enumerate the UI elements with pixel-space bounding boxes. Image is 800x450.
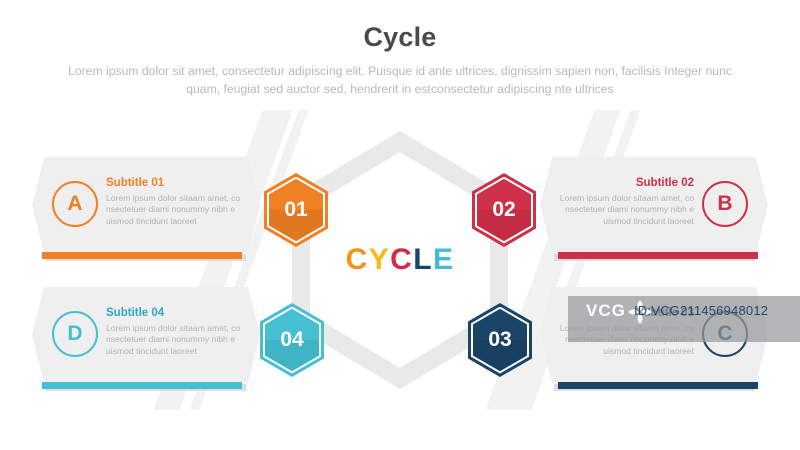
hex-03[interactable]: 03: [468, 303, 532, 377]
card-02-letter: B: [717, 192, 732, 216]
card-02-description: Lorem ipsum dolor sitaam amet, co nsecte…: [546, 193, 694, 227]
card-04-accent-bar: [42, 382, 242, 389]
hex-01[interactable]: 01: [264, 173, 328, 247]
cycle-letter-2: Y: [369, 243, 390, 276]
card-01-subtitle: Subtitle 01: [106, 177, 254, 189]
hex-02[interactable]: 02: [472, 173, 536, 247]
cycle-wordmark: CYCLE: [292, 243, 508, 277]
cycle-letter-5: E: [433, 243, 454, 276]
hex-03-number: 03: [468, 303, 532, 377]
card-02[interactable]: B Subtitle 02 Lorem ipsum dolor sitaam a…: [540, 157, 768, 253]
hex-02-number: 02: [472, 173, 536, 247]
card-03[interactable]: C Subtitle 03 Lorem ipsum dolor sitaam a…: [540, 287, 768, 383]
card-01-accent-bar: [42, 252, 242, 259]
hex-04[interactable]: 04: [260, 303, 324, 377]
card-03-accent-bar: [558, 382, 758, 389]
card-04-description: Lorem ipsum dolor sitaam amet, co nsecte…: [106, 323, 254, 357]
card-02-letter-badge: B: [702, 181, 748, 227]
card-04-subtitle: Subtitle 04: [106, 307, 254, 319]
page-title: Cycle: [0, 22, 800, 53]
card-02-accent-bar: [558, 252, 758, 259]
card-04-text: Subtitle 04 Lorem ipsum dolor sitaam ame…: [106, 307, 254, 357]
card-04-letter: D: [67, 322, 82, 346]
card-01[interactable]: A Subtitle 01 Lorem ipsum dolor sitaam a…: [32, 157, 260, 253]
card-04-letter-badge: D: [52, 311, 98, 357]
card-04[interactable]: D Subtitle 04 Lorem ipsum dolor sitaam a…: [32, 287, 260, 383]
card-01-text: Subtitle 01 Lorem ipsum dolor sitaam ame…: [106, 177, 254, 227]
watermark-brand: VCG: [586, 301, 626, 321]
page-subtitle: Lorem ipsum dolor sit amet, consectetur …: [50, 62, 750, 98]
card-01-description: Lorem ipsum dolor sitaam amet, co nsecte…: [106, 193, 254, 227]
cycle-letter-4: L: [413, 243, 433, 276]
card-01-letter-badge: A: [52, 181, 98, 227]
card-01-letter: A: [67, 192, 82, 216]
card-03-letter: C: [717, 322, 732, 346]
hex-04-number: 04: [260, 303, 324, 377]
card-03-description: Lorem ipsum dolor sitaam amet, co nsecte…: [546, 323, 694, 357]
card-02-subtitle: Subtitle 02: [546, 177, 694, 189]
card-02-text: Subtitle 02 Lorem ipsum dolor sitaam ame…: [546, 177, 694, 227]
cycle-letter-1: C: [346, 243, 369, 276]
watermark-id-text: ID:VCG211456948012: [634, 303, 768, 318]
hex-01-number: 01: [264, 173, 328, 247]
infographic-canvas: Cycle Lorem ipsum dolor sit amet, consec…: [0, 0, 800, 450]
cycle-letter-3: C: [390, 243, 413, 276]
